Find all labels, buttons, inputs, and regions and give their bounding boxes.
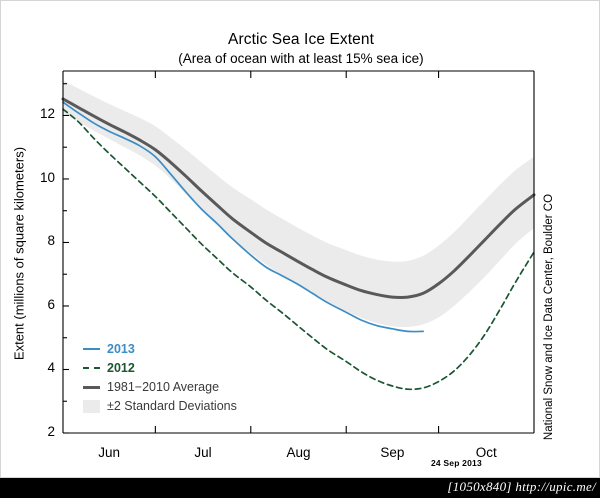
footer-source-text: [1050x840] http://upic.me/ — [447, 479, 596, 495]
y-tick-label: 10 — [31, 170, 55, 185]
y-tick-label: 4 — [31, 360, 55, 375]
chart-figure: Arctic Sea Ice Extent (Area of ocean wit… — [0, 0, 600, 478]
footer-bar: [1050x840] http://upic.me/ — [0, 478, 600, 498]
legend-swatch — [83, 367, 100, 369]
y-tick-label: 8 — [31, 233, 55, 248]
std-dev-band — [63, 81, 534, 328]
legend-label: ±2 Standard Deviations — [107, 399, 237, 413]
y-tick-label: 2 — [31, 424, 55, 439]
x-tick-label: Oct — [456, 445, 516, 460]
legend-swatch — [83, 400, 100, 413]
screenshot-root: Arctic Sea Ice Extent (Area of ocean wit… — [0, 0, 600, 498]
legend-label: 2012 — [107, 361, 135, 375]
legend-label: 1981−2010 Average — [107, 380, 219, 394]
y-tick-label: 6 — [31, 297, 55, 312]
x-tick-label: Aug — [269, 445, 329, 460]
legend-swatch — [83, 386, 100, 389]
legend-swatch — [83, 348, 100, 350]
legend-label: 2013 — [107, 342, 135, 356]
x-tick-label: Sep — [362, 445, 422, 460]
x-tick-label: Jul — [173, 445, 233, 460]
y-tick-label: 12 — [31, 106, 55, 121]
x-tick-label: Jun — [79, 445, 139, 460]
